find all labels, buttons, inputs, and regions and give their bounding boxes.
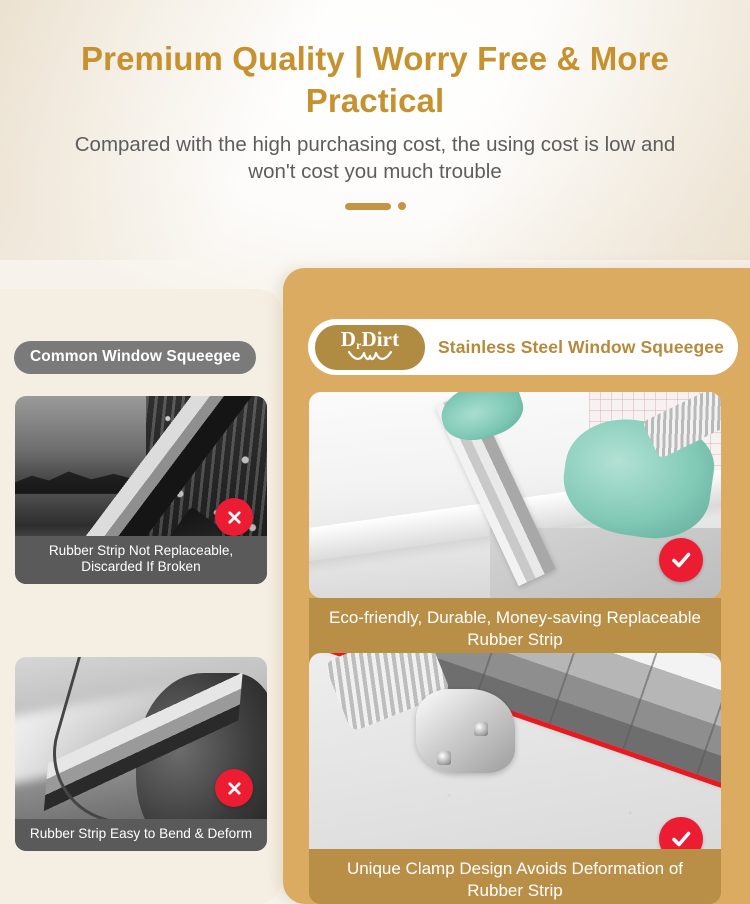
divider-dot xyxy=(398,202,406,210)
check-badge xyxy=(659,538,703,582)
infographic-page: Premium Quality | Worry Free & More Prac… xyxy=(0,0,750,904)
drdirt-card-2-caption: Unique Clamp Design Avoids Deformation o… xyxy=(309,849,721,904)
header: Premium Quality | Worry Free & More Prac… xyxy=(0,0,750,210)
page-subtitle: Compared with the high purchasing cost, … xyxy=(70,131,680,186)
drdirt-card-2 xyxy=(309,653,721,875)
common-squeegee-title-pill: Common Window Squeegee xyxy=(14,341,256,374)
common-squeegee-column: Common Window Squeegee Rubber Strip Not … xyxy=(0,289,283,904)
common-card-1: Rubber Strip Not Replaceable, Discarded … xyxy=(15,396,267,584)
page-title: Premium Quality | Worry Free & More Prac… xyxy=(0,0,750,122)
divider-ornament xyxy=(0,202,750,210)
brand-title: Stainless Steel Window Squeegee xyxy=(438,337,724,358)
brand-header: DrDirt Stainless Steel Window Squeegee xyxy=(308,319,738,375)
x-badge xyxy=(215,498,253,536)
common-card-2-caption: Rubber Strip Easy to Bend & Deform xyxy=(15,819,267,851)
drdirt-logo: DrDirt xyxy=(315,325,425,370)
drdirt-squeegee-column: DrDirt Stainless Steel Window Squeegee xyxy=(283,268,750,904)
common-card-2: Rubber Strip Easy to Bend & Deform xyxy=(15,657,267,851)
divider-bar xyxy=(345,203,391,210)
x-badge xyxy=(215,769,253,807)
drdirt-logo-wordmark: DrDirt xyxy=(341,329,399,350)
logo-wing-icon xyxy=(347,349,393,367)
common-card-1-caption: Rubber Strip Not Replaceable, Discarded … xyxy=(15,536,267,584)
drdirt-card-1 xyxy=(309,392,721,598)
